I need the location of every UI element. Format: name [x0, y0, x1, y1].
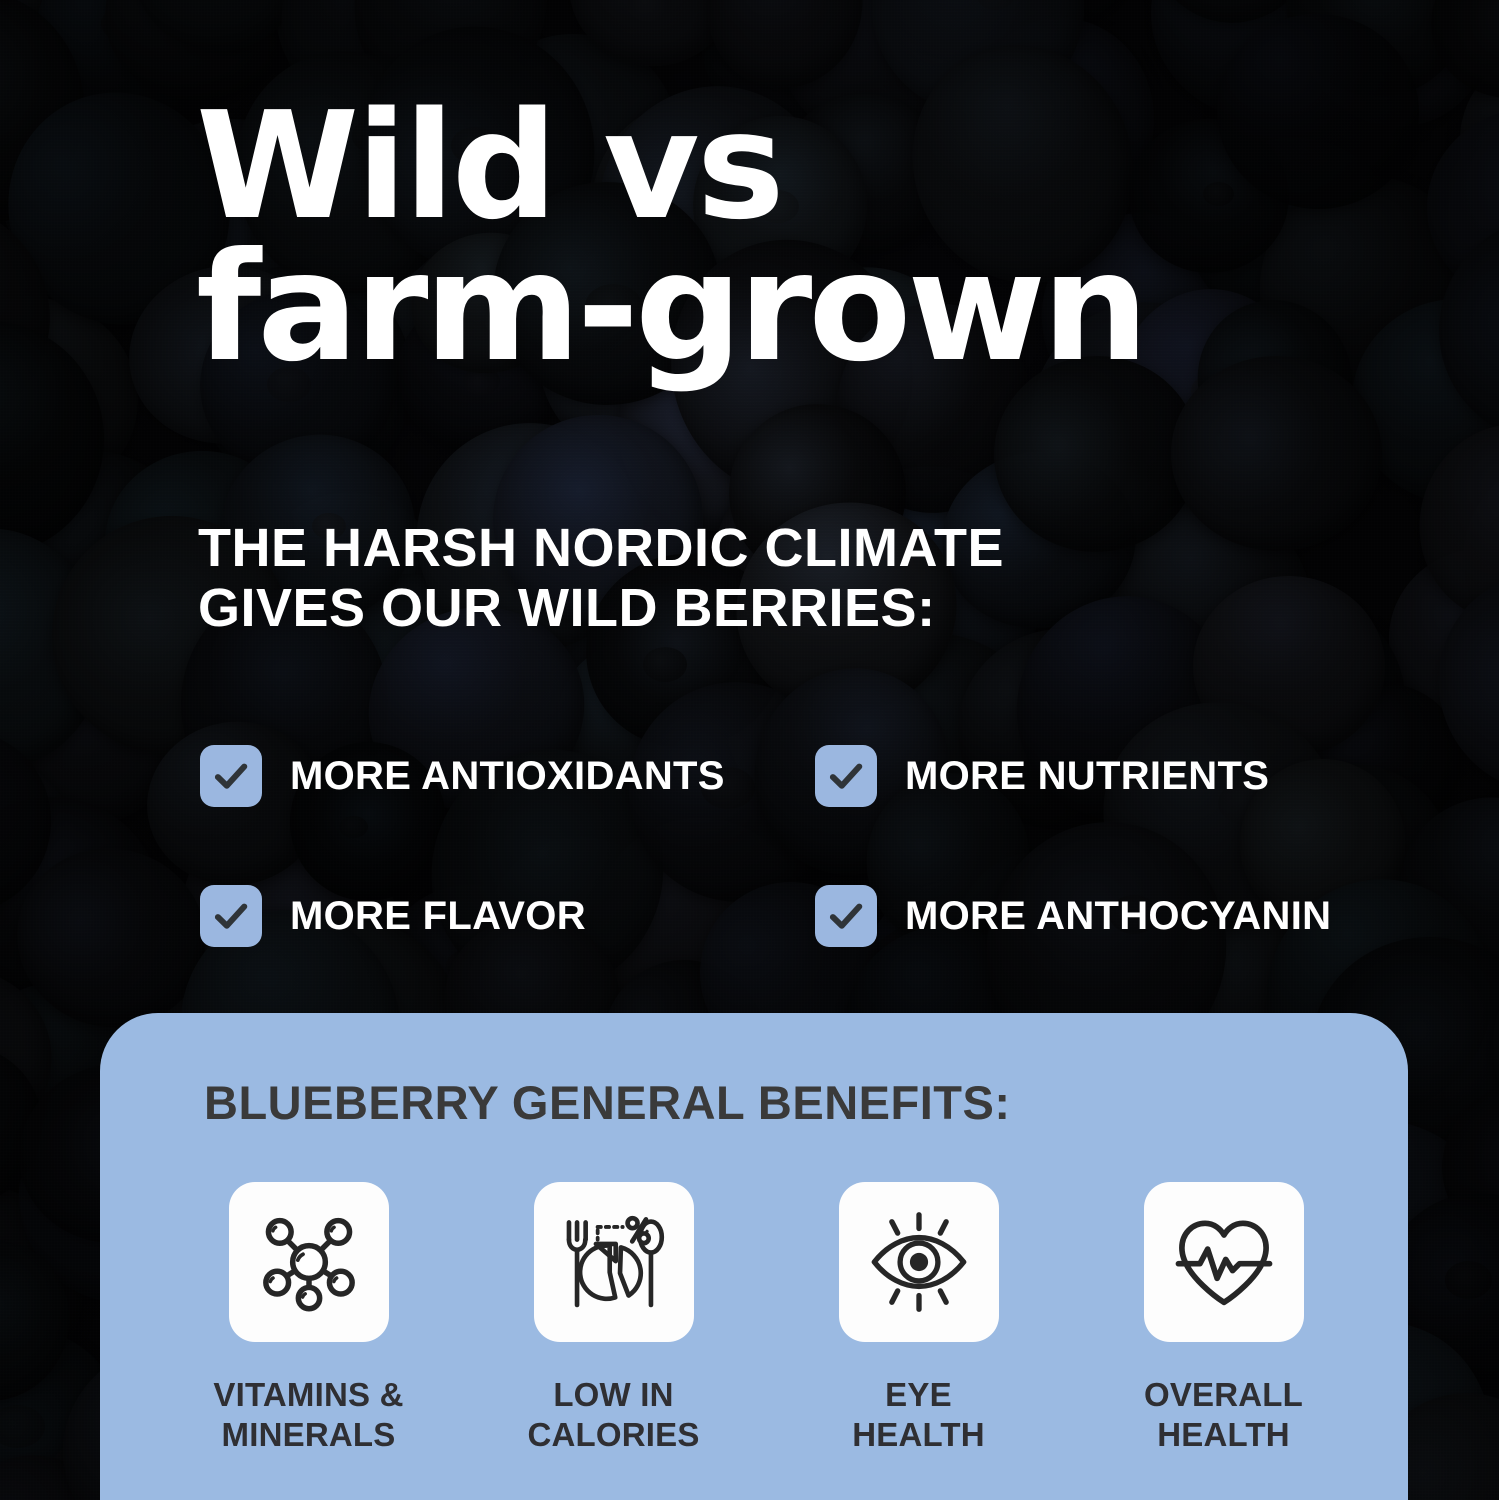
checkmark-icon [200, 885, 262, 947]
checklist-item-label: MORE ANTHOCYANIN [905, 894, 1331, 939]
checkmark-icon [815, 885, 877, 947]
eye-icon [864, 1207, 974, 1317]
checklist-item-more-anthocyanin[interactable]: MORE ANTHOCYANIN [815, 846, 1380, 986]
benefit-label: VITAMINS & MINERALS [213, 1375, 403, 1456]
checkmark-icon [200, 745, 262, 807]
checkmark-icon [815, 745, 877, 807]
checklist-item-more-nutrients[interactable]: MORE NUTRIENTS [815, 706, 1380, 846]
heart-pulse-icon [1169, 1207, 1279, 1317]
benefit-label: EYE HEALTH [852, 1375, 985, 1456]
subheading-line-1: THE HARSH NORDIC CLIMATE [198, 518, 1258, 578]
benefit-vitamins-minerals[interactable]: VITAMINS & MINERALS [156, 1182, 461, 1456]
benefit-overall-health[interactable]: OVERALL HEALTH [1071, 1182, 1376, 1456]
benefit-icon-card [229, 1182, 389, 1342]
headline-line-1: Wild vs [196, 96, 1236, 237]
checklist-item-label: MORE NUTRIENTS [905, 754, 1269, 799]
benefit-icon-card [1144, 1182, 1304, 1342]
nutrition-pie-chart-icon [559, 1207, 669, 1317]
page-title: Wild vs farm-grown [196, 96, 1236, 379]
benefit-label: OVERALL HEALTH [1144, 1375, 1303, 1456]
molecule-icon [254, 1207, 364, 1317]
subheading: THE HARSH NORDIC CLIMATE GIVES OUR WILD … [198, 518, 1258, 639]
benefit-icon-card [534, 1182, 694, 1342]
benefit-label: LOW IN CALORIES [527, 1375, 699, 1456]
benefits-checklist: MORE ANTIOXIDANTS MORE NUTRIENTS MORE FL… [200, 706, 1380, 986]
headline-line-2: farm-grown [196, 237, 1236, 380]
benefit-icon-card [839, 1182, 999, 1342]
benefit-low-in-calories[interactable]: LOW IN CALORIES [461, 1182, 766, 1456]
benefits-panel-title: BLUEBERRY GENERAL BENEFITS: [204, 1075, 1011, 1130]
general-benefits-panel: BLUEBERRY GENERAL BENEFITS: [100, 1013, 1408, 1500]
subheading-line-2: GIVES OUR WILD BERRIES: [198, 578, 1258, 638]
checklist-item-label: MORE ANTIOXIDANTS [290, 754, 725, 799]
benefit-eye-health[interactable]: EYE HEALTH [766, 1182, 1071, 1456]
benefits-icon-grid: VITAMINS & MINERALS [156, 1182, 1376, 1456]
checklist-item-more-flavor[interactable]: MORE FLAVOR [200, 846, 815, 986]
checklist-item-more-antioxidants[interactable]: MORE ANTIOXIDANTS [200, 706, 815, 846]
poster-content: Wild vs farm-grown THE HARSH NORDIC CLIM… [0, 0, 1499, 1500]
checklist-item-label: MORE FLAVOR [290, 894, 586, 939]
